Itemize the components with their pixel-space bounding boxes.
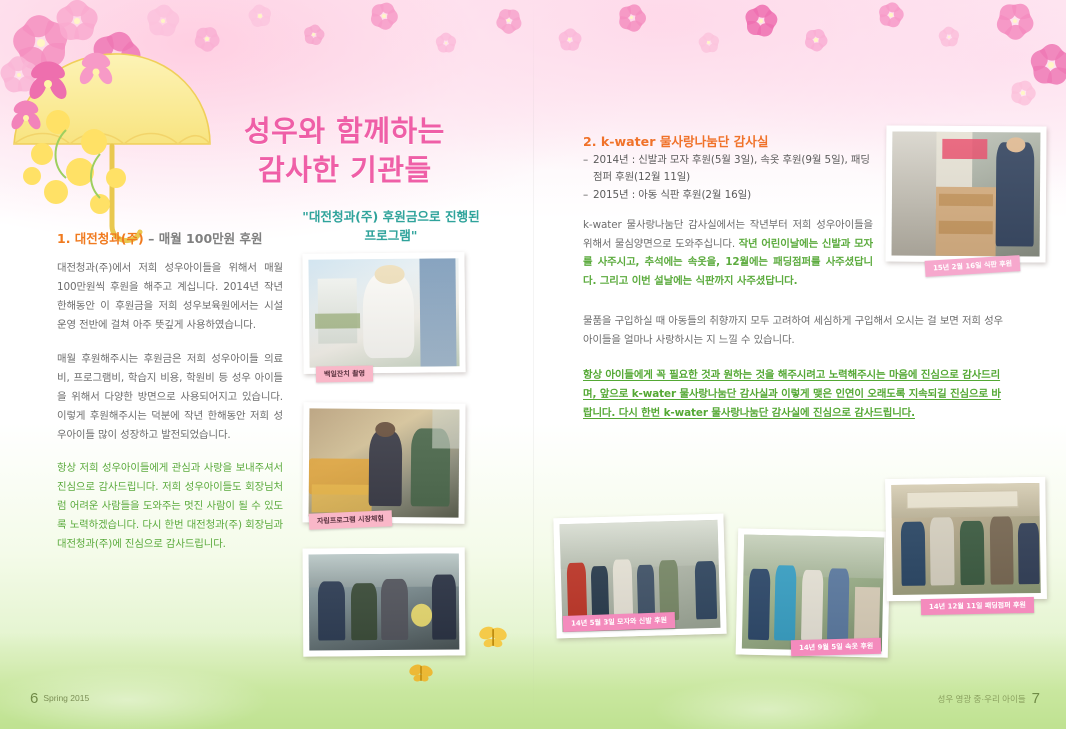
photo-caption-baby: 백일잔치 촬영 (316, 366, 373, 383)
bullet-2015: 2015년 : 아동 식판 후원(2월 16일) (583, 187, 873, 204)
magazine-spread: 성우와 함께하는 감사한 기관들 1. 대전청과(주) – 매월 100만원 후… (0, 0, 1066, 729)
photo-tray-donation (886, 125, 1047, 262)
photo-baby-portrait (302, 252, 465, 374)
left-article: 1. 대전청과(주) – 매월 100만원 후원 대전청과(주)에서 저희 성우… (57, 228, 283, 569)
right-paragraph-2: 물품을 구입하실 때 아동들의 취향까지 모두 고려하여 세심하게 구입해서 오… (583, 312, 1003, 349)
photo-padding-jumper-donation (885, 477, 1047, 601)
footer-label-right: 성우 영광 중·우리 아이들 (938, 693, 1026, 705)
right-paragraph-3: 항상 아이들에게 꼭 필요한 것과 원하는 것을 해주시려고 노력해주시는 마음… (583, 366, 1003, 423)
photo-indoor-group (303, 547, 466, 656)
photo-caption-market: 자립프로그램 시장체험 (309, 510, 392, 529)
page-number-right: 7 (1032, 690, 1040, 707)
page-title-line2: 감사한 기관들 (244, 151, 534, 190)
left-paragraph-2: 매월 후원해주시는 후원금은 저희 성우아이들 의료비, 프로그램비, 학습지 … (57, 350, 283, 445)
page-title: 성우와 함께하는 감사한 기관들 (244, 112, 534, 190)
page-number-left: 6 (30, 690, 38, 707)
photo-caption-padding-jumper: 14년 12월 11일 패딩점퍼 후원 (921, 597, 1034, 615)
footer-left: 6Spring 2015 (30, 690, 89, 707)
left-section-subtitle: – 매월 100만원 후원 (148, 231, 262, 246)
right-section-heading: 2. k-water 물사랑나눔단 감사실 (583, 131, 883, 150)
right-section-bullets: 2014년 : 신발과 모자 후원(5월 3일), 속옷 후원(9월 5일), … (583, 152, 873, 204)
page-title-line1: 성우와 함께하는 (244, 114, 445, 148)
issue-label-left: Spring 2015 (43, 693, 89, 703)
bullet-2014: 2014년 : 신발과 모자 후원(5월 3일), 속옷 후원(9월 5일), … (583, 152, 873, 187)
left-section-number-title: 1. 대전청과(주) (57, 231, 144, 246)
center-program-heading: "대전청과(주) 후원금으로 진행된 프로그램" (300, 208, 482, 246)
left-paragraph-1: 대전청과(주)에서 저희 성우아이들을 위해서 매월 100만원씩 후원을 해주… (57, 259, 283, 335)
left-paragraph-3: 항상 저희 성우아이들에게 관심과 사랑을 보내주셔서 진심으로 감사드립니다.… (57, 459, 283, 554)
photo-caption-underwear: 14년 9월 5일 속옷 후원 (791, 638, 882, 657)
page-spine (533, 0, 534, 729)
left-section-heading: 1. 대전청과(주) – 매월 100만원 후원 (57, 228, 283, 247)
photo-market-program (302, 402, 465, 523)
footer-right: 성우 영광 중·우리 아이들 7 (938, 690, 1040, 707)
right-paragraph-1: k-water 물사랑나눔단 감사실에서는 작년부터 저희 성우아이들을 위해서… (583, 216, 873, 290)
